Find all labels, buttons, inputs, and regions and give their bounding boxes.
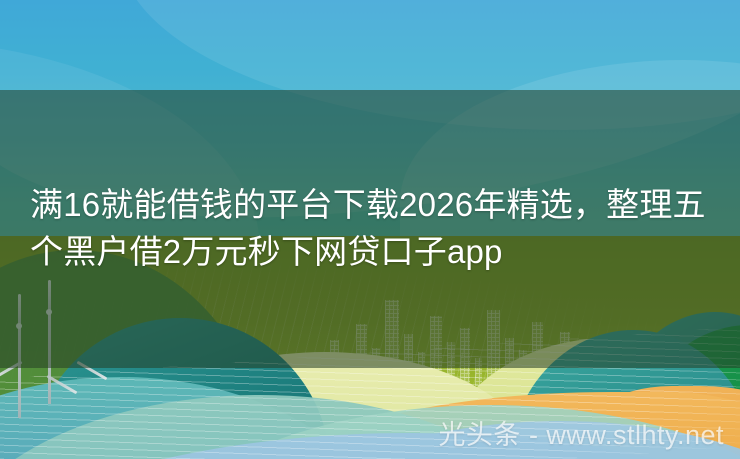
headline-block: 满16就能借钱的平台下载2026年精选，整理五个黑户借2万元秒下网贷口子app — [0, 90, 740, 368]
site-watermark: 光头条 - www.stlhty.net — [438, 422, 724, 449]
page-title: 满16就能借钱的平台下载2026年精选，整理五个黑户借2万元秒下网贷口子app — [30, 182, 710, 276]
cover-image: 满16就能借钱的平台下载2026年精选，整理五个黑户借2万元秒下网贷口子app … — [0, 0, 740, 459]
